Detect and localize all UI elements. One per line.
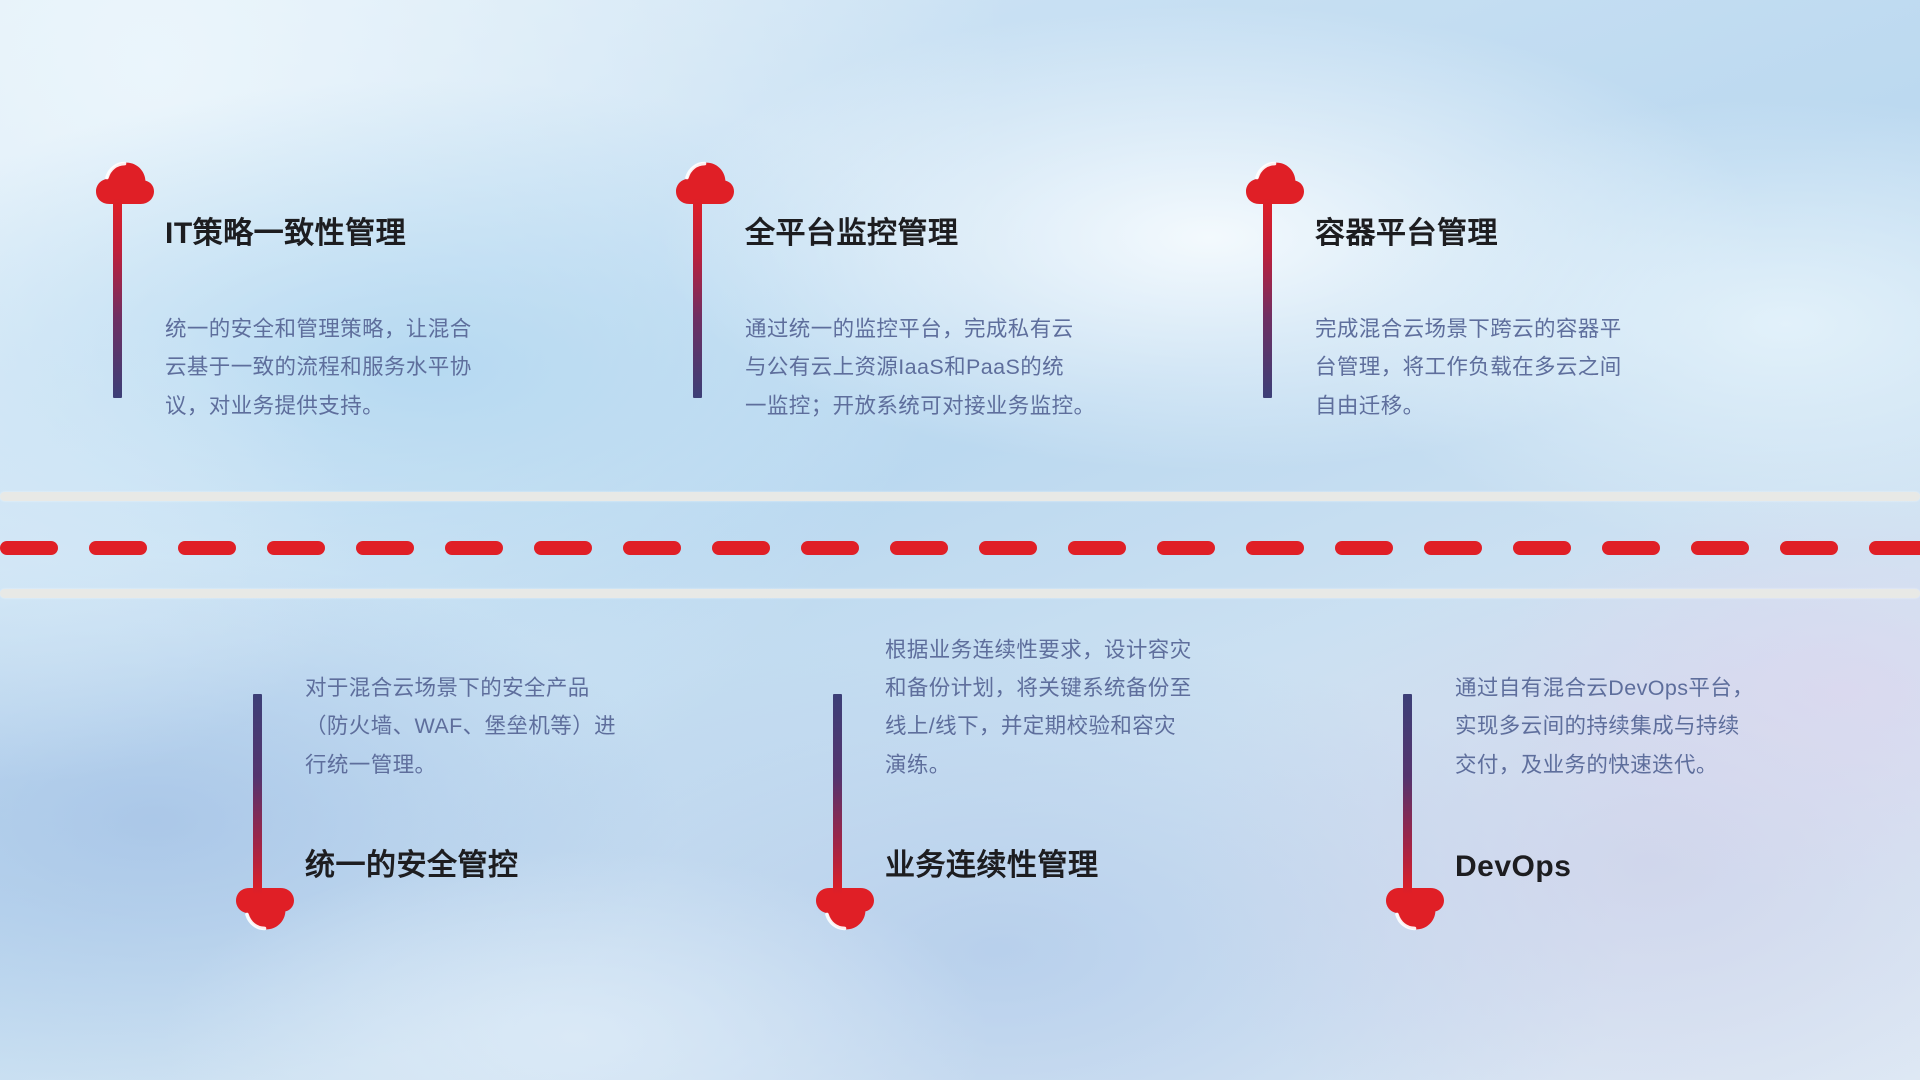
road-dash bbox=[890, 541, 948, 555]
road-dash bbox=[267, 541, 325, 555]
road-line-bottom bbox=[0, 589, 1920, 598]
road-dash bbox=[1780, 541, 1838, 555]
road-dash bbox=[445, 541, 503, 555]
road-dash bbox=[1335, 541, 1393, 555]
card-body-line: 行统一管理。 bbox=[305, 746, 655, 784]
card-stem bbox=[1403, 694, 1412, 894]
cloud-icon bbox=[95, 160, 155, 206]
road-dash bbox=[1424, 541, 1482, 555]
card-body-line: 和备份计划，将关键系统备份至 bbox=[885, 669, 1235, 707]
road-dash bbox=[534, 541, 592, 555]
road-dash bbox=[979, 541, 1037, 555]
cloud-icon bbox=[815, 886, 875, 932]
card-title: IT策略一致性管理 bbox=[165, 208, 406, 252]
card-body-line: 根据业务连续性要求，设计容灾 bbox=[885, 631, 1235, 669]
card-stem bbox=[253, 694, 262, 894]
road-dash bbox=[712, 541, 770, 555]
card-body-line: 线上/线下，并定期校验和容灾 bbox=[885, 707, 1235, 745]
card-body-line: 台管理，将工作负载在多云之间 bbox=[1315, 348, 1665, 386]
cloud-icon bbox=[235, 886, 295, 932]
road-line-top bbox=[0, 492, 1920, 501]
road-dash bbox=[356, 541, 414, 555]
card-body-line: 通过统一的监控平台，完成私有云 bbox=[745, 310, 1095, 348]
road-dash bbox=[0, 541, 58, 555]
road-dash bbox=[1513, 541, 1571, 555]
road-dash bbox=[1068, 541, 1126, 555]
road-dash bbox=[1869, 541, 1920, 555]
card-body-line: 议，对业务提供支持。 bbox=[165, 387, 515, 425]
card-body-line: 云基于一致的流程和服务水平协 bbox=[165, 348, 515, 386]
card-body: 统一的安全和管理策略，让混合 云基于一致的流程和服务水平协 议，对业务提供支持。 bbox=[165, 310, 515, 425]
card-body-line: 交付，及业务的快速迭代。 bbox=[1455, 746, 1805, 784]
card-body-line: 完成混合云场景下跨云的容器平 bbox=[1315, 310, 1665, 348]
card-body-line: （防火墙、WAF、堡垒机等）进 bbox=[305, 707, 655, 745]
card-body: 根据业务连续性要求，设计容灾 和备份计划，将关键系统备份至 线上/线下，并定期校… bbox=[885, 631, 1235, 784]
card-body-line: 实现多云间的持续集成与持续 bbox=[1455, 707, 1805, 745]
road-dash-track bbox=[0, 541, 1920, 555]
card-body-line: 演练。 bbox=[885, 746, 1235, 784]
card-body: 对于混合云场景下的安全产品 （防火墙、WAF、堡垒机等）进 行统一管理。 bbox=[305, 669, 655, 784]
card-stem bbox=[1263, 198, 1272, 398]
cloud-icon bbox=[1245, 160, 1305, 206]
card-body: 通过自有混合云DevOps平台， 实现多云间的持续集成与持续 交付，及业务的快速… bbox=[1455, 669, 1805, 784]
road-dash bbox=[1157, 541, 1215, 555]
road-dash bbox=[1691, 541, 1749, 555]
cloud-icon bbox=[1385, 886, 1445, 932]
card-title: 业务连续性管理 bbox=[885, 840, 1099, 884]
road-dash bbox=[178, 541, 236, 555]
cloud-icon bbox=[675, 160, 735, 206]
card-body: 完成混合云场景下跨云的容器平 台管理，将工作负载在多云之间 自由迁移。 bbox=[1315, 310, 1665, 425]
road-dash bbox=[1246, 541, 1304, 555]
card-body-line: 通过自有混合云DevOps平台， bbox=[1455, 669, 1805, 707]
card-body: 通过统一的监控平台，完成私有云 与公有云上资源IaaS和PaaS的统 一监控；开… bbox=[745, 310, 1095, 425]
card-title: 统一的安全管控 bbox=[305, 840, 519, 884]
road-dash bbox=[801, 541, 859, 555]
card-body-line: 一监控；开放系统可对接业务监控。 bbox=[745, 387, 1095, 425]
card-body-line: 统一的安全和管理策略，让混合 bbox=[165, 310, 515, 348]
card-body-line: 与公有云上资源IaaS和PaaS的统 bbox=[745, 348, 1095, 386]
card-stem bbox=[833, 694, 842, 894]
card-title: 容器平台管理 bbox=[1315, 208, 1498, 252]
card-stem bbox=[693, 198, 702, 398]
card-body-line: 对于混合云场景下的安全产品 bbox=[305, 669, 655, 707]
card-title: DevOps bbox=[1455, 850, 1571, 884]
road-dash bbox=[89, 541, 147, 555]
road-divider bbox=[0, 488, 1920, 608]
card-body-line: 自由迁移。 bbox=[1315, 387, 1665, 425]
road-dash bbox=[1602, 541, 1660, 555]
card-title: 全平台监控管理 bbox=[745, 208, 959, 252]
card-stem bbox=[113, 198, 122, 398]
road-dash bbox=[623, 541, 681, 555]
